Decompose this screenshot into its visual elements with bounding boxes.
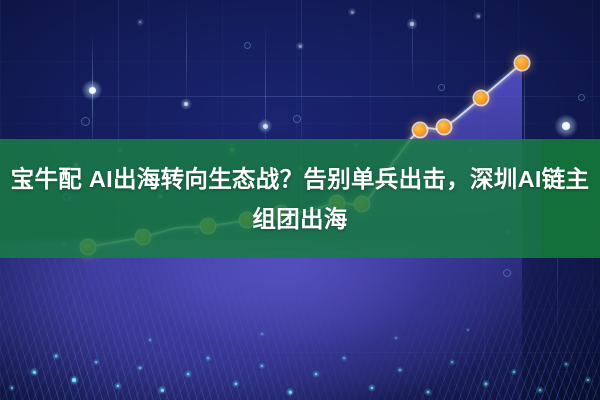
chart-data-point bbox=[475, 92, 488, 105]
banner-image: 宝牛配 AI出海转向生态战？告别单兵出击，深圳AI链主组团出海 bbox=[0, 0, 600, 400]
chart-data-point bbox=[516, 57, 529, 70]
chart-data-point bbox=[438, 121, 451, 134]
page-title: 宝牛配 AI出海转向生态战？告别单兵出击，深圳AI链主组团出海 bbox=[0, 139, 600, 258]
chart-data-point bbox=[414, 124, 427, 137]
